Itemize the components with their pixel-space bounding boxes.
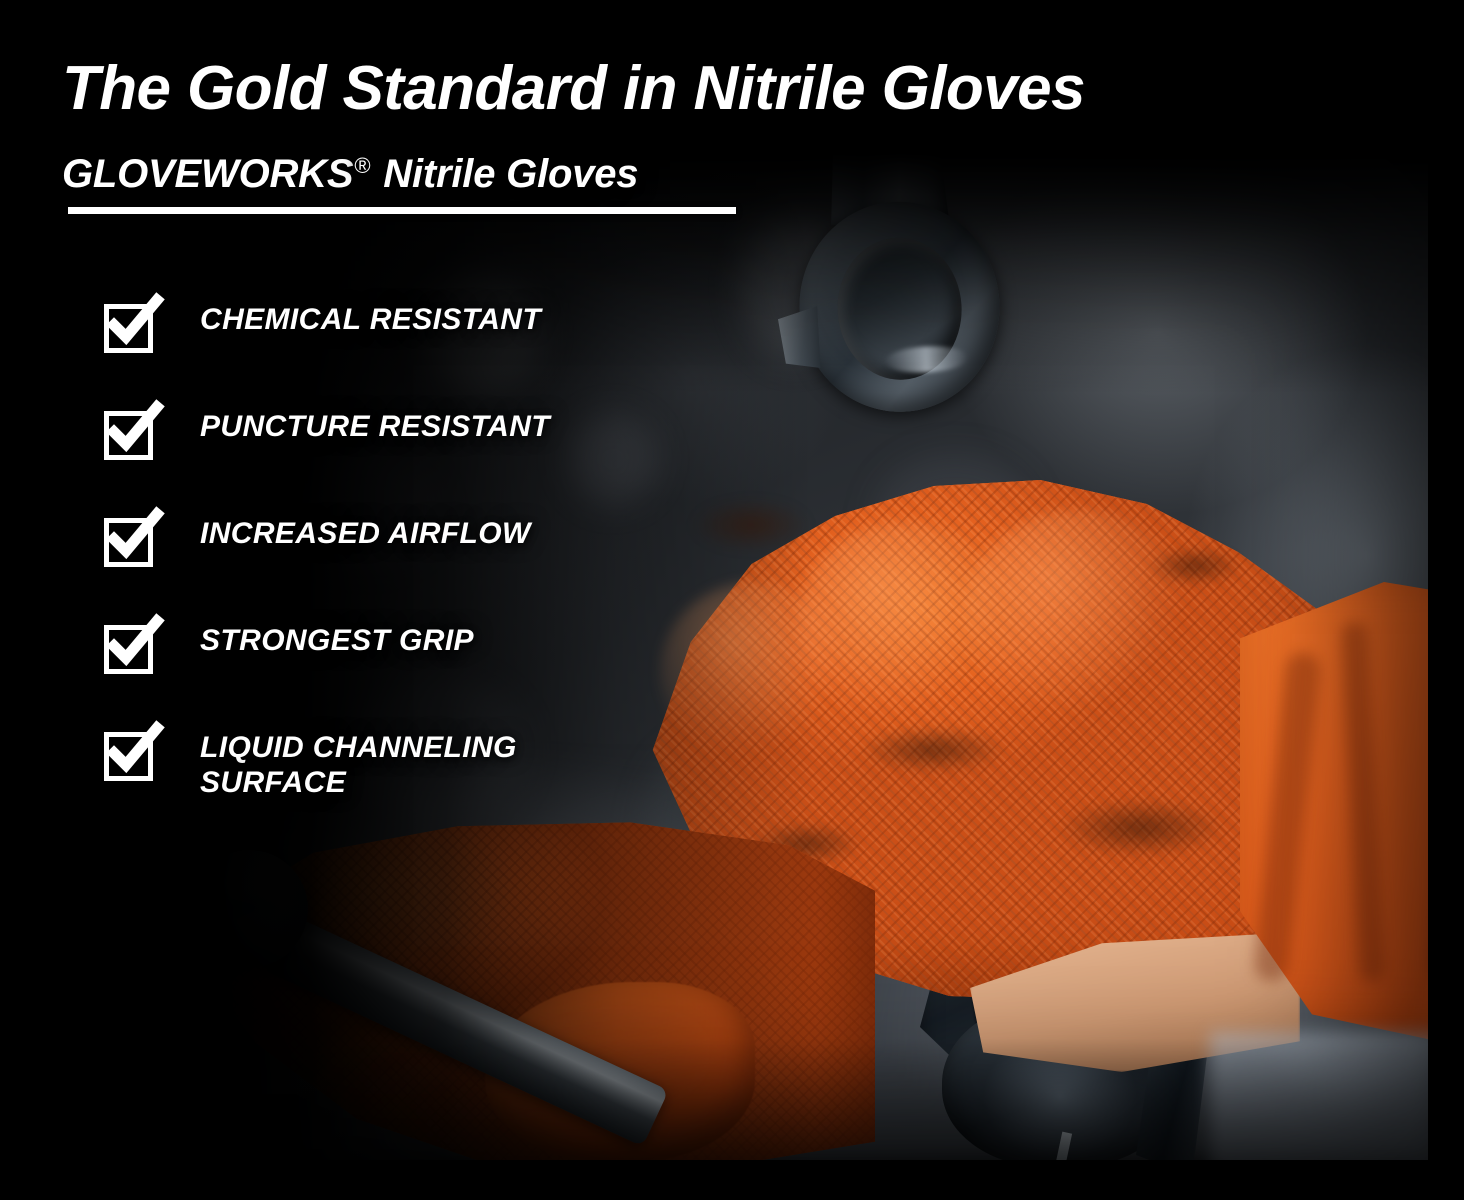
- list-item-label: INCREASED AIRFLOW: [200, 510, 531, 552]
- list-item: LIQUID CHANNELING SURFACE: [104, 724, 704, 801]
- grease-smudge: [858, 726, 1008, 774]
- knuckle-highlight: [964, 510, 1194, 720]
- checked-checkbox-icon: [104, 405, 160, 461]
- checked-checkbox-icon: [104, 512, 160, 568]
- grease-smudge: [691, 498, 811, 552]
- lower-gloved-hand: [200, 792, 875, 1160]
- product-feature-banner: 45: [0, 0, 1464, 1200]
- grease-smudge: [1147, 546, 1243, 586]
- list-item: INCREASED AIRFLOW: [104, 510, 704, 568]
- list-item: CHEMICAL RESISTANT: [104, 296, 704, 354]
- connecting-rod-lug: [777, 306, 820, 370]
- brand-name: GLOVEWORKS: [62, 152, 353, 196]
- product-name: Nitrile Gloves: [383, 152, 638, 196]
- headline: The Gold Standard in Nitrile Gloves: [62, 57, 1085, 121]
- feature-list: CHEMICAL RESISTANT PUNCTURE RESISTANT: [104, 296, 704, 801]
- divider-rule: [68, 207, 736, 214]
- metal-blue-highlight: [213, 896, 279, 920]
- background-garment: [1210, 1032, 1428, 1160]
- list-item-label: STRONGEST GRIP: [200, 617, 474, 659]
- list-item: PUNCTURE RESISTANT: [104, 403, 704, 461]
- list-item-label: PUNCTURE RESISTANT: [200, 403, 550, 445]
- subheadline: GLOVEWORKS® Nitrile Gloves: [62, 152, 638, 197]
- checked-checkbox-icon: [104, 726, 160, 782]
- checked-checkbox-icon: [104, 619, 160, 675]
- list-item-label: CHEMICAL RESISTANT: [200, 296, 541, 338]
- list-item-label: LIQUID CHANNELING SURFACE: [200, 724, 517, 801]
- registered-trademark-icon: ®: [354, 153, 370, 178]
- list-item: STRONGEST GRIP: [104, 617, 704, 675]
- grease-smudge: [1056, 798, 1226, 858]
- checked-checkbox-icon: [104, 298, 160, 354]
